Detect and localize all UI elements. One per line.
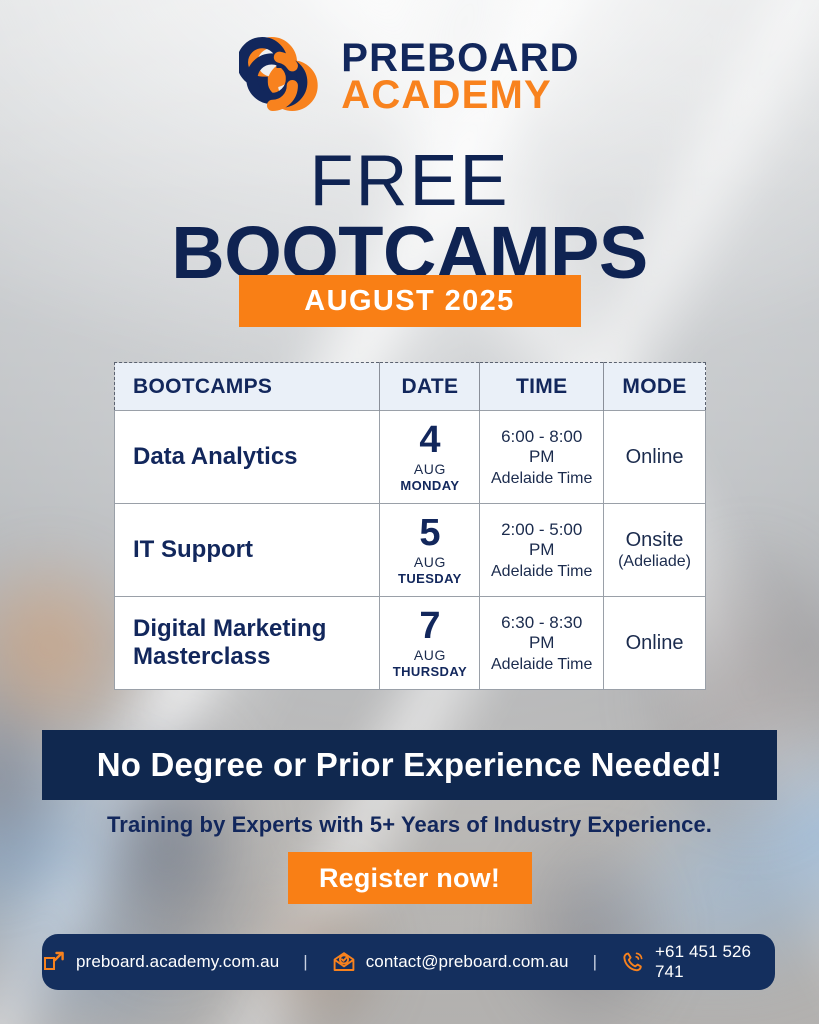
bootcamp-mode: Online bbox=[604, 411, 706, 504]
mode-label: Online bbox=[610, 632, 699, 655]
contact-footer-bar: preboard.academy.com.au | contact@preboa… bbox=[42, 934, 775, 990]
column-header-time: TIME bbox=[480, 363, 604, 411]
highlight-banner-text: No Degree or Prior Experience Needed! bbox=[97, 746, 722, 784]
date-day: 5 bbox=[384, 514, 475, 552]
bootcamp-time: 6:00 - 8:00 PM Adelaide Time bbox=[480, 411, 604, 504]
mode-label: Onsite bbox=[610, 529, 699, 552]
email-contact[interactable]: contact@preboard.com.au bbox=[332, 950, 569, 974]
date-weekday: TUESDAY bbox=[384, 571, 475, 586]
column-header-bootcamps: BOOTCAMPS bbox=[115, 363, 380, 411]
date-weekday: MONDAY bbox=[384, 478, 475, 493]
table-header-row: BOOTCAMPS DATE TIME MODE bbox=[115, 363, 706, 411]
date-day: 7 bbox=[384, 607, 475, 645]
brand-name-line1: PREBOARD bbox=[341, 40, 580, 77]
date-weekday: THURSDAY bbox=[384, 664, 475, 679]
phone-ring-icon bbox=[621, 950, 645, 974]
mode-label: Online bbox=[610, 446, 699, 469]
register-now-button[interactable]: Register now! bbox=[288, 852, 532, 904]
bootcamp-mode: Online bbox=[604, 597, 706, 690]
email-label: contact@preboard.com.au bbox=[366, 952, 569, 972]
table-row: Digital Marketing Masterclass 7 AUG THUR… bbox=[115, 597, 706, 690]
month-badge: AUGUST 2025 bbox=[239, 275, 581, 327]
bootcamp-date: 5 AUG TUESDAY bbox=[380, 504, 480, 597]
external-link-icon bbox=[42, 950, 66, 974]
website-label: preboard.academy.com.au bbox=[76, 952, 279, 972]
phone-label: +61 451 526 741 bbox=[655, 942, 775, 982]
month-badge-label: AUGUST 2025 bbox=[304, 285, 514, 318]
time-range: 2:00 - 5:00 PM bbox=[486, 520, 597, 560]
subline-text: Training by Experts with 5+ Years of Ind… bbox=[0, 812, 819, 838]
footer-separator-1: | bbox=[279, 952, 331, 972]
date-month: AUG bbox=[384, 461, 475, 477]
website-contact[interactable]: preboard.academy.com.au bbox=[42, 950, 279, 974]
envelope-check-icon bbox=[332, 950, 356, 974]
table-row: Data Analytics 4 AUG MONDAY 6:00 - 8:00 … bbox=[115, 411, 706, 504]
time-range: 6:00 - 8:00 PM bbox=[486, 427, 597, 467]
bootcamp-date: 4 AUG MONDAY bbox=[380, 411, 480, 504]
bootcamp-time: 6:30 - 8:30 PM Adelaide Time bbox=[480, 597, 604, 690]
time-zone: Adelaide Time bbox=[486, 470, 597, 488]
phone-contact[interactable]: +61 451 526 741 bbox=[621, 942, 775, 982]
bootcamp-date: 7 AUG THURSDAY bbox=[380, 597, 480, 690]
register-now-label: Register now! bbox=[319, 863, 500, 894]
brand-name-line2: ACADEMY bbox=[341, 77, 580, 114]
time-zone: Adelaide Time bbox=[486, 563, 597, 581]
column-header-date: DATE bbox=[380, 363, 480, 411]
bootcamp-name: IT Support bbox=[115, 504, 380, 597]
column-header-mode: MODE bbox=[604, 363, 706, 411]
bootcamp-mode: Onsite (Adeliade) bbox=[604, 504, 706, 597]
table-row: IT Support 5 AUG TUESDAY 2:00 - 5:00 PM … bbox=[115, 504, 706, 597]
highlight-banner: No Degree or Prior Experience Needed! bbox=[42, 730, 777, 800]
bootcamp-name: Digital Marketing Masterclass bbox=[115, 597, 380, 690]
interlocking-rings-logo-icon bbox=[239, 34, 325, 120]
time-zone: Adelaide Time bbox=[486, 656, 597, 674]
time-range: 6:30 - 8:30 PM bbox=[486, 613, 597, 653]
bootcamp-name: Data Analytics bbox=[115, 411, 380, 504]
date-month: AUG bbox=[384, 554, 475, 570]
mode-sublabel: (Adeliade) bbox=[610, 553, 699, 571]
bootcamp-time: 2:00 - 5:00 PM Adelaide Time bbox=[480, 504, 604, 597]
bootcamp-schedule-table: BOOTCAMPS DATE TIME MODE Data Analytics … bbox=[114, 362, 706, 690]
date-day: 4 bbox=[384, 421, 475, 459]
brand-logo: PREBOARD ACADEMY bbox=[0, 34, 819, 120]
footer-separator-2: | bbox=[569, 952, 621, 972]
date-month: AUG bbox=[384, 647, 475, 663]
